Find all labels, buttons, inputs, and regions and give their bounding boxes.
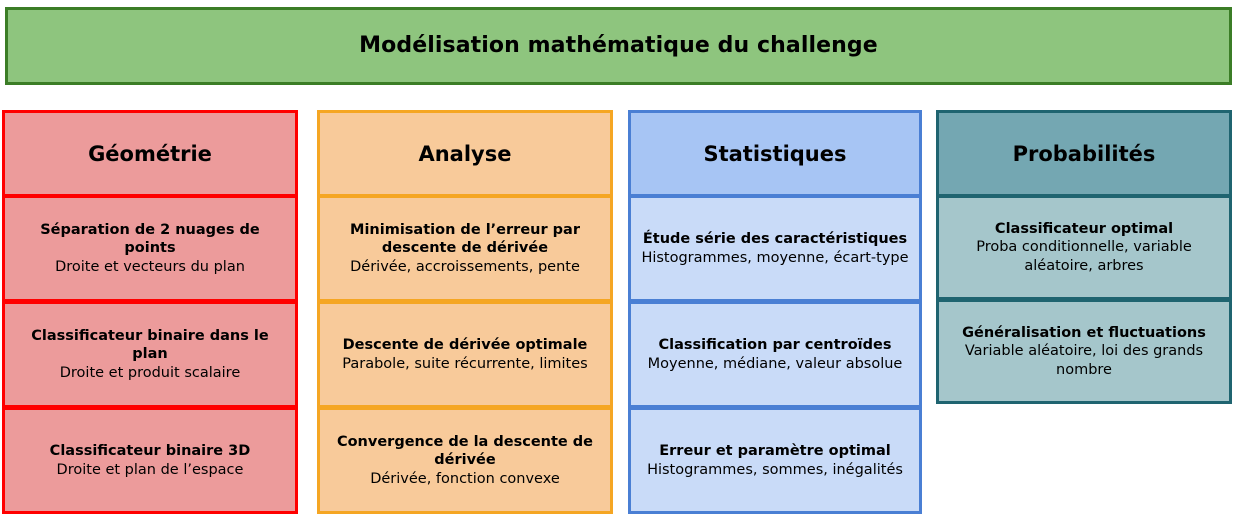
- column-header-probabilites: Probabilités: [936, 110, 1232, 196]
- topic-subtitle: Moyenne, médiane, valeur absolue: [648, 355, 903, 374]
- topic-title: Classificateur binaire 3D: [50, 442, 251, 461]
- topic-subtitle: Dérivée, accroissements, pente: [350, 258, 580, 277]
- topic-subtitle: Droite et plan de l’espace: [57, 461, 244, 480]
- topic-title: Classification par centroïdes: [659, 336, 892, 355]
- topic-subtitle: Droite et produit scalaire: [60, 364, 241, 383]
- topic-cell: Descente de dérivée optimale Parabole, s…: [317, 302, 613, 408]
- topic-title: Erreur et paramètre optimal: [659, 442, 891, 461]
- topic-title: Descente de dérivée optimale: [343, 336, 588, 355]
- topic-cell: Minimisation de l’erreur par descente de…: [317, 196, 613, 302]
- topic-subtitle: Histogrammes, sommes, inégalités: [647, 461, 903, 480]
- column-geometrie: Géométrie Séparation de 2 nuages de poin…: [2, 110, 298, 514]
- topic-cell: Classificateur optimal Proba conditionne…: [936, 196, 1232, 300]
- topic-cell: Généralisation et fluctuations Variable …: [936, 300, 1232, 404]
- diagram-root: Modélisation mathématique du challenge G…: [0, 0, 1237, 527]
- topic-title: Séparation de 2 nuages de points: [13, 221, 287, 258]
- column-statistiques: Statistiques Étude série des caractérist…: [628, 110, 922, 514]
- topic-subtitle: Proba conditionnelle, variable aléatoire…: [947, 238, 1221, 275]
- topic-cell: Classification par centroïdes Moyenne, m…: [628, 302, 922, 408]
- topic-cell: Convergence de la descente de dérivée Dé…: [317, 408, 613, 514]
- column-analyse: Analyse Minimisation de l’erreur par des…: [317, 110, 613, 514]
- topic-subtitle: Histogrammes, moyenne, écart-type: [641, 249, 908, 268]
- page-title: Modélisation mathématique du challenge: [359, 33, 878, 59]
- topic-cell: Erreur et paramètre optimal Histogrammes…: [628, 408, 922, 514]
- column-header-statistiques: Statistiques: [628, 110, 922, 196]
- topic-subtitle: Droite et vecteurs du plan: [55, 258, 245, 277]
- topic-subtitle: Dérivée, fonction convexe: [370, 470, 560, 489]
- column-header-analyse: Analyse: [317, 110, 613, 196]
- topic-title: Étude série des caractéristiques: [643, 230, 907, 249]
- column-header-geometrie: Géométrie: [2, 110, 298, 196]
- topic-title: Généralisation et fluctuations: [962, 324, 1206, 343]
- topic-cell: Séparation de 2 nuages de points Droite …: [2, 196, 298, 302]
- topic-cell: Étude série des caractéristiques Histogr…: [628, 196, 922, 302]
- topic-title: Minimisation de l’erreur par descente de…: [328, 221, 602, 258]
- topic-cell: Classificateur binaire dans le plan Droi…: [2, 302, 298, 408]
- topic-subtitle: Parabole, suite récurrente, limites: [342, 355, 587, 374]
- category-columns: Géométrie Séparation de 2 nuages de poin…: [0, 110, 1237, 525]
- topic-title: Classificateur optimal: [995, 220, 1173, 239]
- column-probabilites: Probabilités Classificateur optimal Prob…: [936, 110, 1232, 404]
- topic-cell: Classificateur binaire 3D Droite et plan…: [2, 408, 298, 514]
- topic-subtitle: Variable aléatoire, loi des grands nombr…: [947, 342, 1221, 379]
- title-banner: Modélisation mathématique du challenge: [5, 7, 1232, 85]
- topic-title: Classificateur binaire dans le plan: [13, 327, 287, 364]
- topic-title: Convergence de la descente de dérivée: [328, 433, 602, 470]
